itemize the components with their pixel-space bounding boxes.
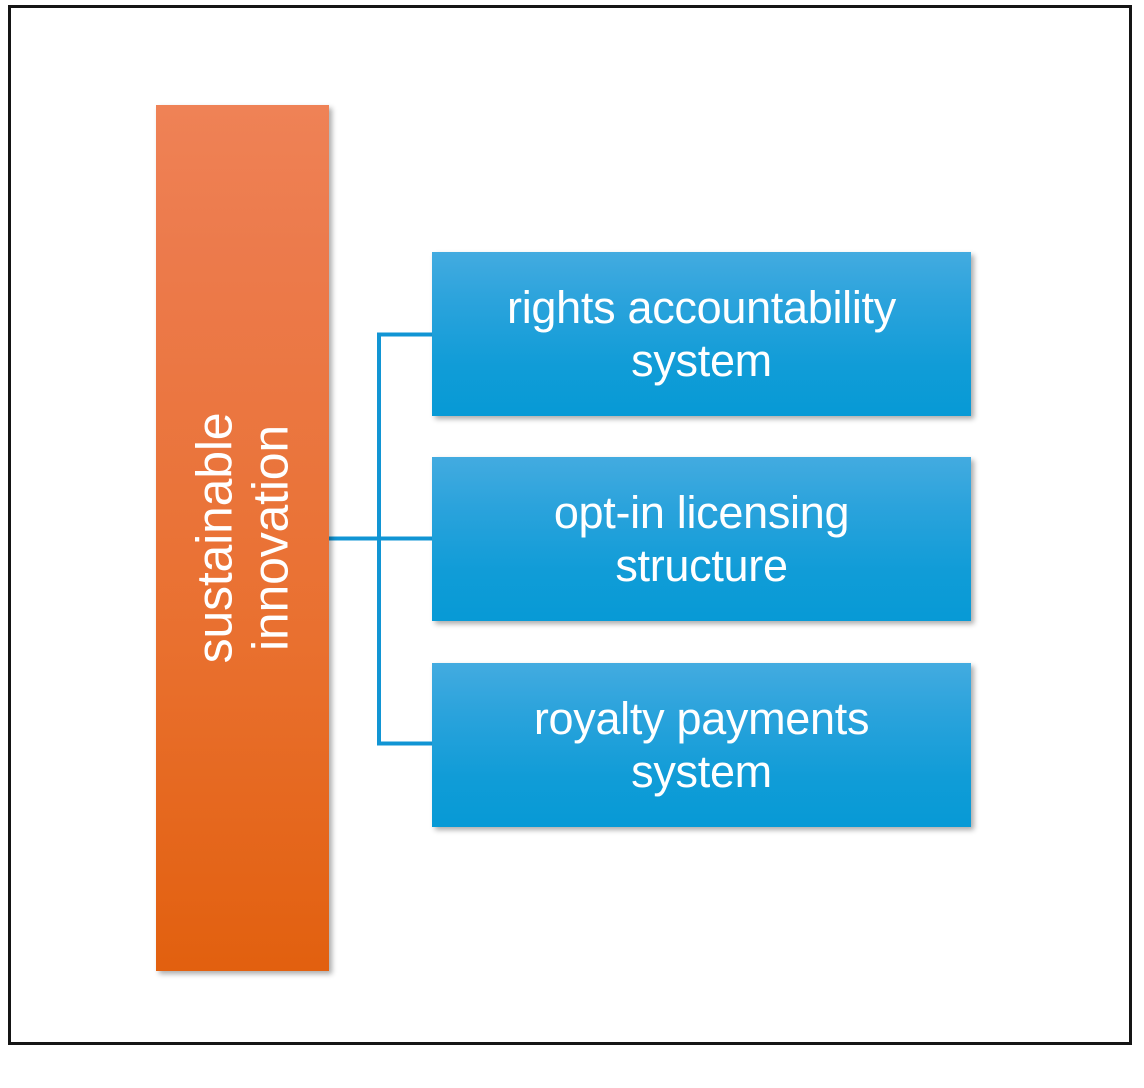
root-node-label-line1: sustainable <box>187 413 243 664</box>
child-node-label-line2: system <box>631 746 772 797</box>
root-node-label-line2: innovation <box>243 413 299 664</box>
root-node-label: sustainable innovation <box>187 413 299 664</box>
child-node-label-line1: royalty payments <box>534 693 869 744</box>
diagram-canvas: sustainable innovation rights accountabi… <box>0 0 1144 1088</box>
child-node-royalty-payments-system[interactable]: royalty payments system <box>432 663 971 827</box>
root-node-sustainable-innovation[interactable]: sustainable innovation <box>156 105 329 971</box>
child-node-label-line1: opt-in licensing <box>554 487 849 538</box>
child-node-opt-in-licensing-structure[interactable]: opt-in licensing structure <box>432 457 971 621</box>
child-node-label-line2: system <box>631 335 772 386</box>
child-node-label: rights accountability system <box>507 281 896 387</box>
child-node-label: royalty payments system <box>534 692 869 798</box>
child-node-rights-accountability-system[interactable]: rights accountability system <box>432 252 971 416</box>
child-node-label-line2: structure <box>615 540 787 591</box>
child-node-label: opt-in licensing structure <box>554 486 849 592</box>
child-node-label-line1: rights accountability <box>507 282 896 333</box>
